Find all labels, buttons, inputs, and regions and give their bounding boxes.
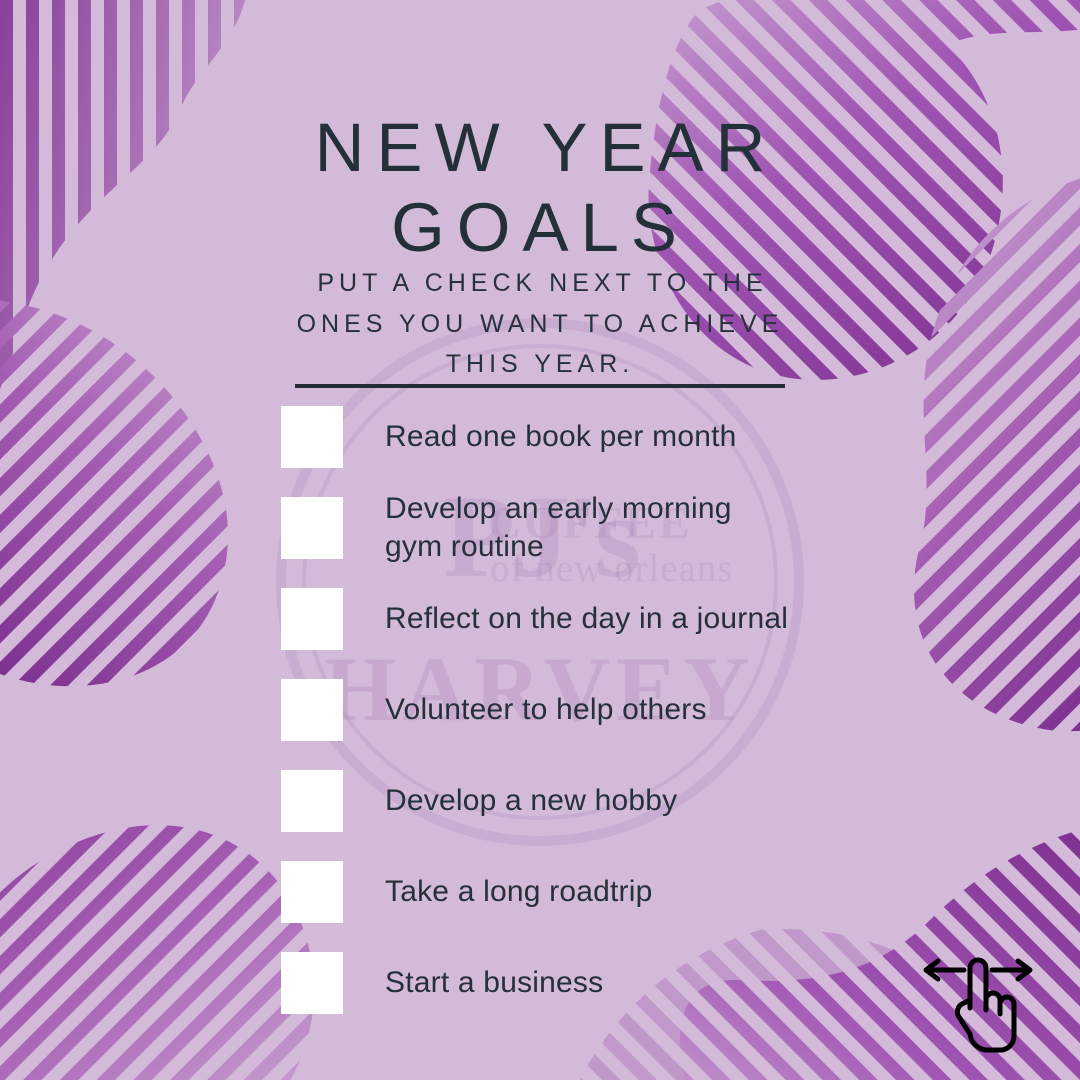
content-layer: NEW YEARGOALS PUT A CHECK NEXT TO THE ON…	[0, 0, 1080, 1080]
new-year-goals-post: PJ's COFFEE of new orleans HARVEY NEW YE…	[0, 0, 1080, 1080]
checklist-item-label: Reflect on the day in a journal	[385, 588, 788, 650]
checklist-item-label: Start a business	[385, 952, 603, 1014]
checklist-item-label: Develop an early morning gym routine	[385, 497, 732, 559]
checkbox-3[interactable]	[281, 679, 343, 741]
checkbox-1[interactable]	[281, 497, 343, 559]
swipe-hand-icon[interactable]	[918, 948, 1038, 1058]
checkbox-4[interactable]	[281, 770, 343, 832]
checklist-item[interactable]: Develop a new hobby	[281, 770, 841, 861]
header-divider	[295, 384, 785, 388]
page-subtitle: PUT A CHECK NEXT TO THE ONES YOU WANT TO…	[280, 263, 800, 385]
checkbox-5[interactable]	[281, 861, 343, 923]
page-title: NEW YEARGOALS	[0, 108, 1080, 268]
checklist-item[interactable]: Volunteer to help others	[281, 679, 841, 770]
checklist-item-label: Develop a new hobby	[385, 770, 677, 832]
page-title-line2: GOALS	[391, 189, 689, 266]
checklist-item[interactable]: Read one book per month	[281, 406, 841, 497]
checklist-item-label: Take a long roadtrip	[385, 861, 653, 923]
checklist-item-label: Read one book per month	[385, 406, 737, 468]
checklist-item[interactable]: Start a business	[281, 952, 841, 1043]
checklist-item-label: Volunteer to help others	[385, 679, 707, 741]
checkbox-0[interactable]	[281, 406, 343, 468]
checklist-item[interactable]: Develop an early morning gym routine	[281, 497, 841, 588]
goals-checklist: Read one book per month Develop an early…	[281, 406, 841, 1043]
checklist-item[interactable]: Take a long roadtrip	[281, 861, 841, 952]
checkbox-2[interactable]	[281, 588, 343, 650]
checklist-item[interactable]: Reflect on the day in a journal	[281, 588, 841, 679]
checkbox-6[interactable]	[281, 952, 343, 1014]
page-title-line1: NEW YEAR	[315, 109, 778, 186]
